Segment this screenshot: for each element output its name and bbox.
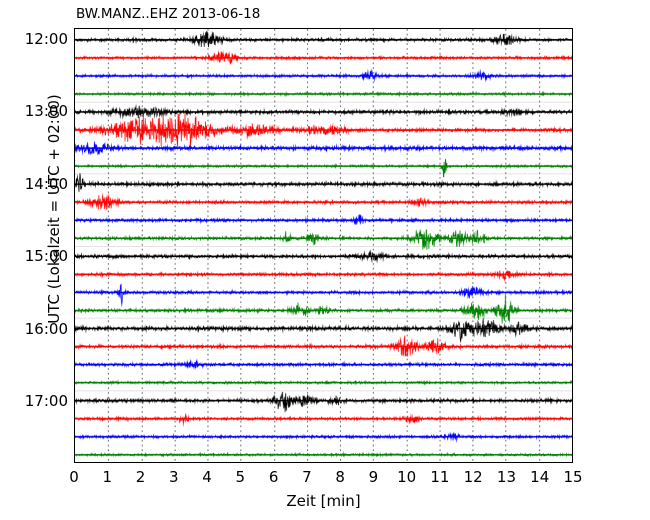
x-tick-label-2: 2 — [136, 468, 146, 486]
x-axis-label: Zeit [min] — [74, 492, 573, 510]
x-axis-tick-labels: 0123456789101112131415 — [0, 0, 650, 520]
x-tick-label-6: 6 — [269, 468, 279, 486]
x-tick-label-13: 13 — [497, 468, 516, 486]
x-tick-label-14: 14 — [530, 468, 549, 486]
x-tick-label-10: 10 — [397, 468, 416, 486]
x-tick-label-1: 1 — [102, 468, 112, 486]
x-tick-label-15: 15 — [563, 468, 582, 486]
x-tick-label-9: 9 — [369, 468, 379, 486]
x-tick-label-5: 5 — [236, 468, 246, 486]
x-tick-label-4: 4 — [202, 468, 212, 486]
x-tick-label-3: 3 — [169, 468, 179, 486]
x-tick-label-0: 0 — [69, 468, 79, 486]
x-tick-label-11: 11 — [430, 468, 449, 486]
seismogram-figure: BW.MANZ..EHZ 2013-06-18 UTC (Lokalzeit =… — [0, 0, 650, 520]
x-tick-label-8: 8 — [335, 468, 345, 486]
x-tick-label-7: 7 — [302, 468, 312, 486]
x-tick-label-12: 12 — [464, 468, 483, 486]
